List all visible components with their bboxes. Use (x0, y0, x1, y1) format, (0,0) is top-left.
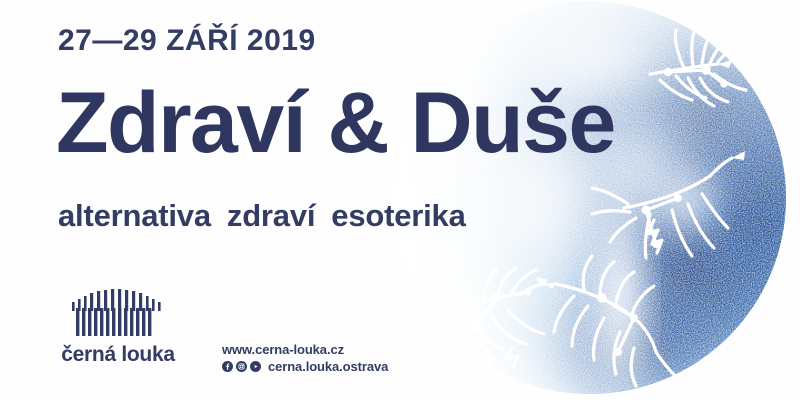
bird-bottom-left-dove-glyph (450, 268, 557, 369)
topic-list: alternativazdravíesoterika (58, 198, 466, 234)
instagram-icon[interactable] (236, 361, 247, 372)
topic-esoterika: esoterika (331, 198, 465, 233)
topic-alternativa: alternativa (58, 198, 211, 233)
social-handle[interactable]: cerna.louka.ostrava (268, 359, 388, 374)
bird-bottom-right-dove-glyph (536, 256, 682, 386)
contact-info: www.cerna-louka.cz cerna.louka.ostrava (222, 342, 388, 374)
event-date-range: 27—29 ZÁŘÍ 2019 (58, 24, 316, 58)
bird-top-crane-glyph (650, 26, 746, 106)
facebook-icon[interactable] (222, 361, 233, 372)
cerna-louka-wordmark: černá louka (48, 343, 188, 367)
cerna-louka-fence-icon (66, 286, 170, 338)
topic-zdravi: zdraví (227, 198, 315, 233)
page-title: Zdraví & Duše (56, 80, 615, 166)
poster-canvas: 27—29 ZÁŘÍ 2019 Zdraví & Duše alternativ… (0, 0, 800, 400)
bird-right-crane-glyph (592, 151, 745, 258)
cerna-louka-logo[interactable]: černá louka (48, 286, 188, 367)
website-url[interactable]: www.cerna-louka.cz (222, 342, 388, 358)
youtube-icon[interactable] (250, 361, 261, 372)
social-links: cerna.louka.ostrava (222, 359, 388, 374)
